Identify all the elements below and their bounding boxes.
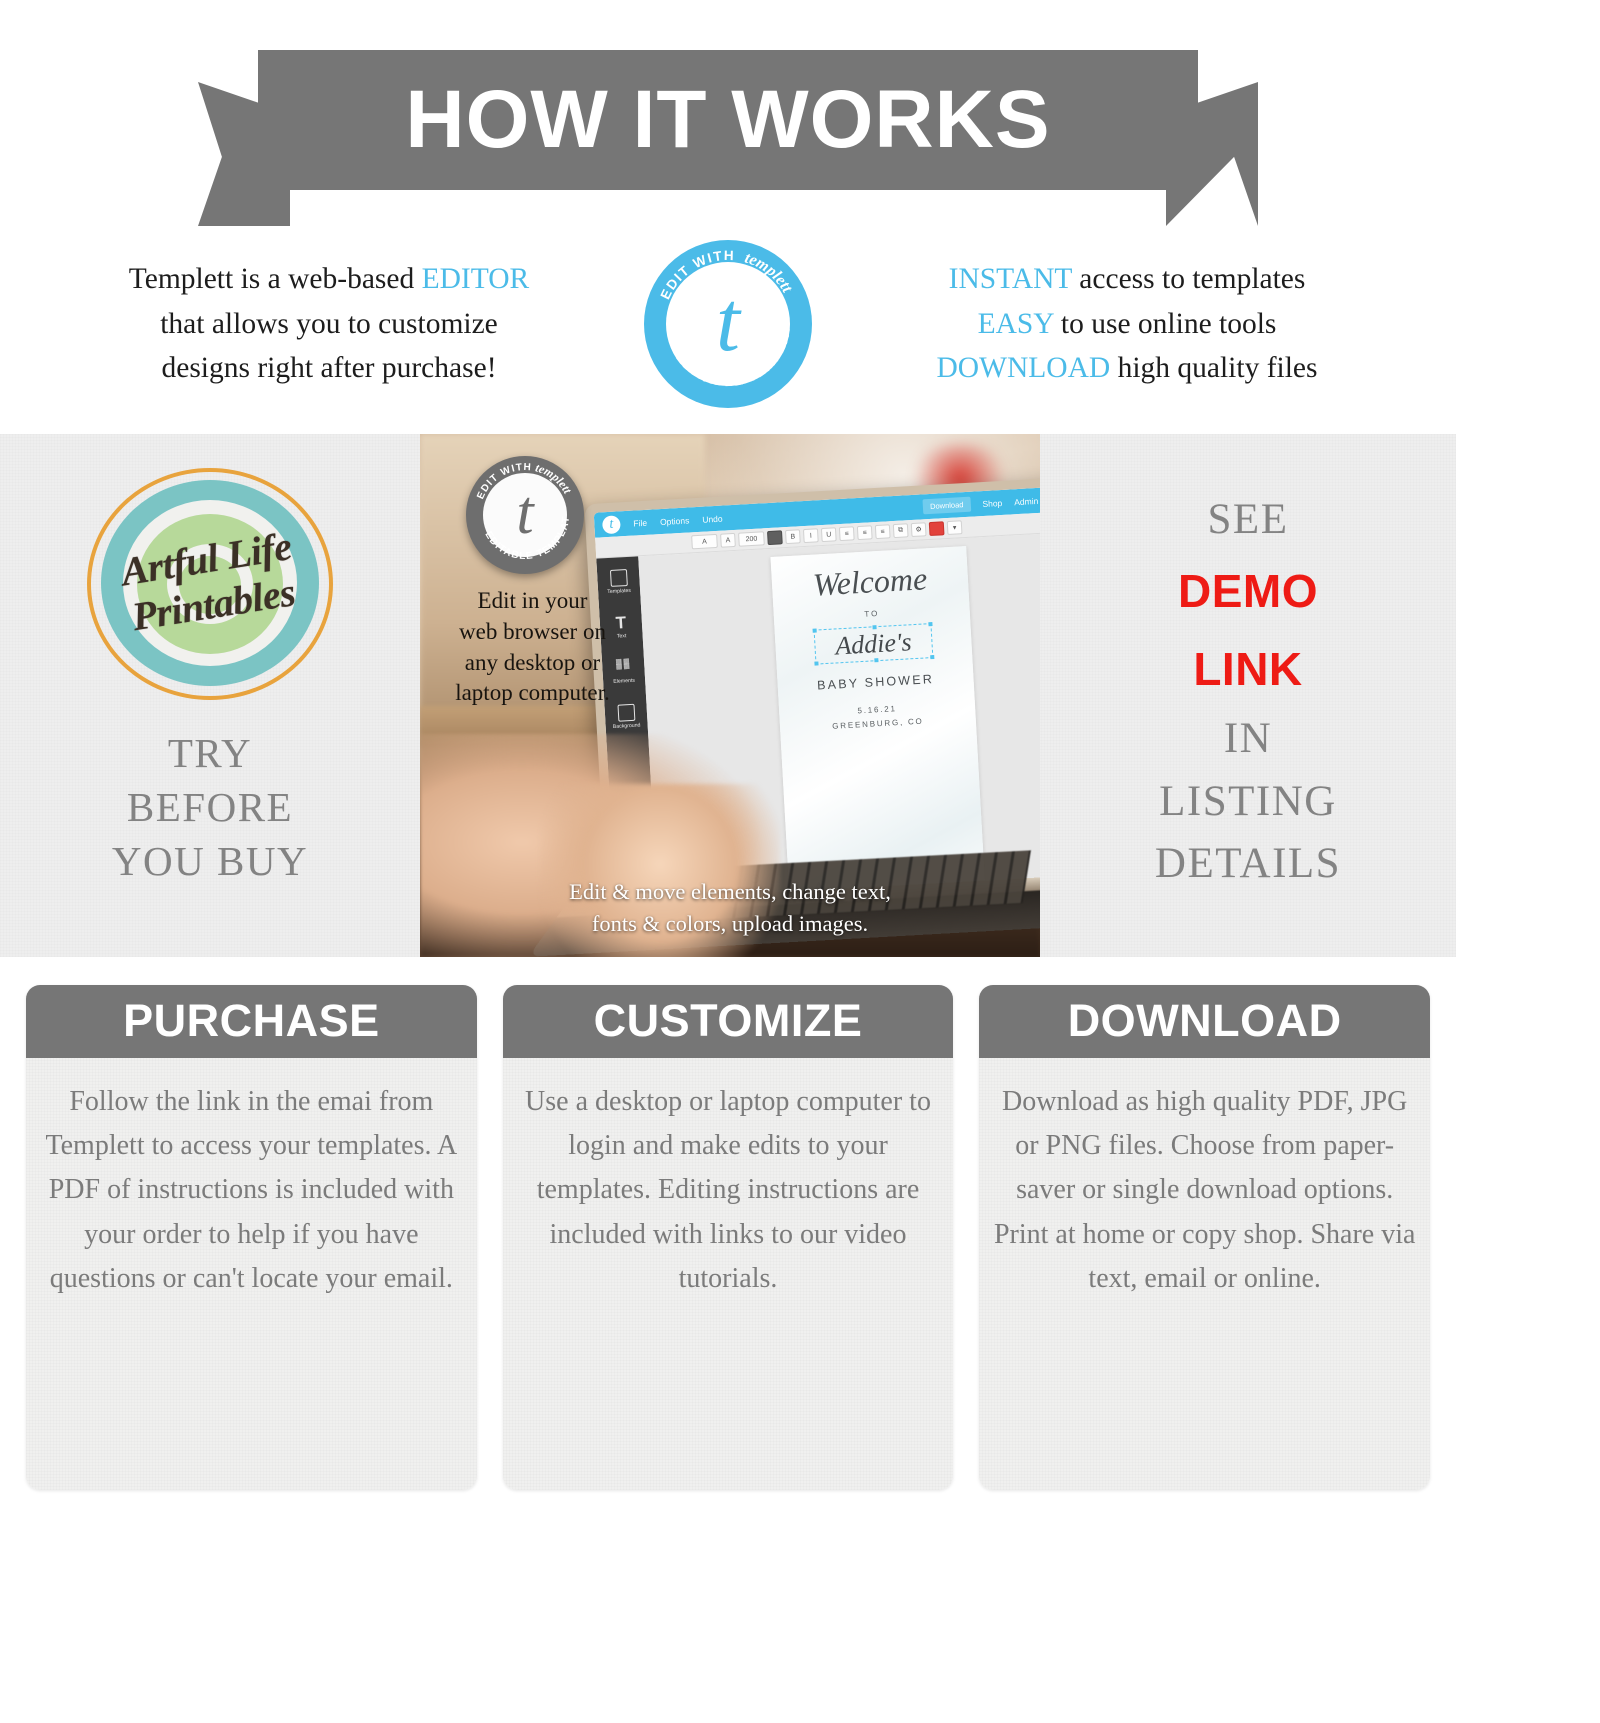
laptop-photo: t File Options Undo Download Shop Admin … [420, 434, 1040, 957]
editor-logo-icon: t [602, 515, 621, 534]
card-download: DOWNLOAD Download as high quality PDF, J… [979, 985, 1430, 1490]
infographic-page: HOW IT WORKS Templett is a web-based EDI… [0, 0, 1456, 1568]
intro-left-line1-pre: Templett is a web-based [129, 263, 422, 295]
design-event-text: BABY SHOWER [777, 670, 973, 695]
intro-right-line1: INSTANT access to templates [834, 257, 1420, 302]
banner: HOW IT WORKS [0, 38, 1456, 228]
color-swatch-icon[interactable] [767, 530, 783, 545]
card-purchase: PURCHASE Follow the link in the emai fro… [26, 985, 477, 1490]
editor-top-toolbar-right: Download Shop Admin Help [923, 491, 1040, 514]
demo-line-see: SEE [1208, 489, 1289, 552]
intro-right-text: INSTANT access to templates EASY to use … [828, 257, 1420, 391]
demo-line-details: DETAILS [1155, 833, 1341, 896]
resize-handle-tr[interactable] [929, 622, 933, 626]
resize-handle-br[interactable] [930, 655, 934, 659]
editor-download-button[interactable]: Download [923, 497, 971, 515]
editor-menu-admin[interactable]: Admin [1014, 495, 1039, 506]
try-line-2: BEFORE [112, 780, 308, 834]
templett-badge-blue: EDIT WITH templett EDITABLE TEMPLATE t [644, 240, 812, 408]
card-download-header: DOWNLOAD [979, 985, 1430, 1058]
page-title: HOW IT WORKS [405, 79, 1050, 161]
resize-handle-bc[interactable] [874, 658, 878, 662]
intro-right-line1-rest: access to templates [1072, 263, 1305, 295]
editor-menu-file[interactable]: File [633, 517, 647, 528]
card-customize-header: CUSTOMIZE [503, 985, 954, 1058]
intro-right-line3-accent: DOWNLOAD [937, 352, 1111, 384]
photo-caption-line-2: fonts & colors, upload images. [420, 908, 1040, 940]
design-welcome-text: Welcome [771, 560, 968, 603]
demo-line-demo: DEMO [1178, 552, 1318, 630]
design-selected-text-box[interactable]: Addie's [813, 623, 933, 665]
steps-cards: PURCHASE Follow the link in the emai fro… [0, 957, 1456, 1524]
edit-caption-line-1: Edit in your [430, 586, 635, 617]
design-preview[interactable]: Welcome TO Addie' [770, 546, 986, 903]
resize-handle-tl[interactable] [812, 629, 816, 633]
italic-icon[interactable]: I [803, 528, 819, 543]
delete-icon[interactable] [929, 521, 945, 536]
intro-left-line2: that allows you to customize [36, 302, 622, 347]
copy-icon[interactable]: ⧉ [893, 523, 909, 538]
try-before-you-buy: TRY BEFORE YOU BUY [112, 726, 308, 888]
editor-menu-options[interactable]: Options [660, 515, 690, 527]
intro-left-text: Templett is a web-based EDITOR that allo… [36, 257, 628, 391]
rail-label-background: Background [613, 722, 641, 730]
intro-right-line2-rest: to use online tools [1054, 308, 1277, 340]
font-picker-icon[interactable]: A [691, 534, 718, 549]
intro-left-line3: designs right after purchase! [36, 346, 622, 391]
try-line-1: TRY [112, 726, 308, 780]
intro-right-line2: EASY to use online tools [834, 302, 1420, 347]
align-center-icon[interactable]: ≡ [857, 525, 873, 540]
chevron-down-icon[interactable]: ▾ [947, 520, 963, 535]
resize-handle-bl[interactable] [814, 662, 818, 666]
demo-link-column: SEE DEMO LINK IN LISTING DETAILS [1040, 434, 1456, 957]
editor-menu-shop[interactable]: Shop [982, 497, 1002, 508]
intro-right-line3: DOWNLOAD high quality files [834, 346, 1420, 391]
edit-caption-line-2: web browser on [430, 617, 635, 648]
badge-gray-letter-t: t [466, 456, 584, 574]
align-left-icon[interactable]: ≡ [839, 526, 855, 541]
edit-caption-line-4: laptop computer. [430, 678, 635, 709]
intro-left-line1-accent: EDITOR [422, 263, 530, 295]
intro-left-line1: Templett is a web-based EDITOR [36, 257, 622, 302]
card-download-body: Download as high quality PDF, JPG or PNG… [979, 1058, 1430, 1490]
templett-badge-gray: EDIT WITH templett EDITABLE TEMPLATE t [466, 456, 584, 574]
card-download-title: DOWNLOAD [985, 998, 1424, 1043]
demo-line-listing: LISTING [1159, 771, 1337, 834]
demo-line-link: LINK [1193, 630, 1302, 708]
underline-icon[interactable]: U [821, 527, 837, 542]
photo-bottom-caption: Edit & move elements, change text, fonts… [420, 876, 1040, 939]
bold-icon[interactable]: B [785, 529, 801, 544]
banner-body: HOW IT WORKS [258, 50, 1198, 190]
brand-column: Artful Life Printables TRY BEFORE YOU BU… [0, 434, 420, 957]
card-customize-body: Use a desktop or laptop computer to logi… [503, 1058, 954, 1490]
resize-handle-tc[interactable] [872, 625, 876, 629]
align-right-icon[interactable]: ≡ [875, 524, 891, 539]
card-customize-title: CUSTOMIZE [509, 998, 948, 1043]
intro-section: Templett is a web-based EDITOR that allo… [0, 228, 1456, 434]
card-purchase-title: PURCHASE [32, 998, 471, 1043]
demo-line-in: IN [1224, 708, 1272, 771]
logo-ring-green-2 [179, 556, 241, 614]
font-size-input[interactable]: 200 [738, 531, 765, 546]
design-to-text: TO [774, 604, 970, 624]
editor-menu-undo[interactable]: Undo [702, 513, 723, 524]
intro-right-line2-accent: EASY [978, 308, 1054, 340]
edit-in-browser-caption: Edit in your web browser on any desktop … [430, 586, 635, 709]
badge-letter-t: t [644, 240, 812, 408]
design-name-text: Addie's [835, 628, 913, 660]
card-customize: CUSTOMIZE Use a desktop or laptop comput… [503, 985, 954, 1490]
try-line-3: YOU BUY [112, 834, 308, 888]
settings-gear-icon[interactable]: ⚙ [911, 522, 927, 537]
edit-caption-line-3: any desktop or [430, 648, 635, 679]
card-purchase-header: PURCHASE [26, 985, 477, 1058]
photo-caption-line-1: Edit & move elements, change text, [420, 876, 1040, 908]
middle-band: Artful Life Printables TRY BEFORE YOU BU… [0, 434, 1456, 957]
intro-right-line1-accent: INSTANT [949, 263, 1072, 295]
intro-right-line3-rest: high quality files [1110, 352, 1317, 384]
card-purchase-body: Follow the link in the emai from Templet… [26, 1058, 477, 1490]
templates-icon [609, 569, 627, 587]
artful-life-printables-logo: Artful Life Printables [79, 456, 341, 708]
text-color-picker-icon[interactable]: A [720, 533, 736, 548]
